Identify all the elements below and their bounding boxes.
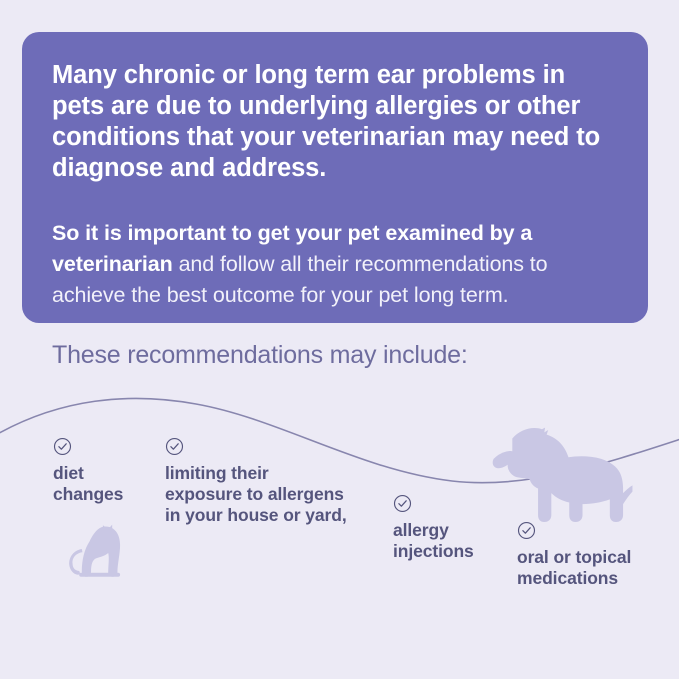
list-item-label: diet changes <box>53 463 173 505</box>
callout-card: Many chronic or long term ear problems i… <box>22 32 648 323</box>
lead-paragraph: Many chronic or long term ear problems i… <box>52 60 618 184</box>
list-item-label: oral or topical medications <box>517 547 677 589</box>
cat-silhouette <box>62 516 128 582</box>
check-circle-icon <box>393 494 412 513</box>
secondary-paragraph: So it is important to get your pet exami… <box>52 218 618 311</box>
list-item: oral or topical medications <box>517 521 677 589</box>
list-item: diet changes <box>53 437 173 505</box>
check-circle-icon <box>165 437 184 456</box>
page-title: These recommendations may include: <box>52 341 468 370</box>
list-item-label: limiting their exposure to allergens in … <box>165 463 365 526</box>
list-item: limiting their exposure to allergens in … <box>165 437 365 526</box>
infographic-panel: Many chronic or long term ear problems i… <box>0 0 679 679</box>
check-circle-icon <box>53 437 72 456</box>
check-circle-icon <box>517 521 536 540</box>
